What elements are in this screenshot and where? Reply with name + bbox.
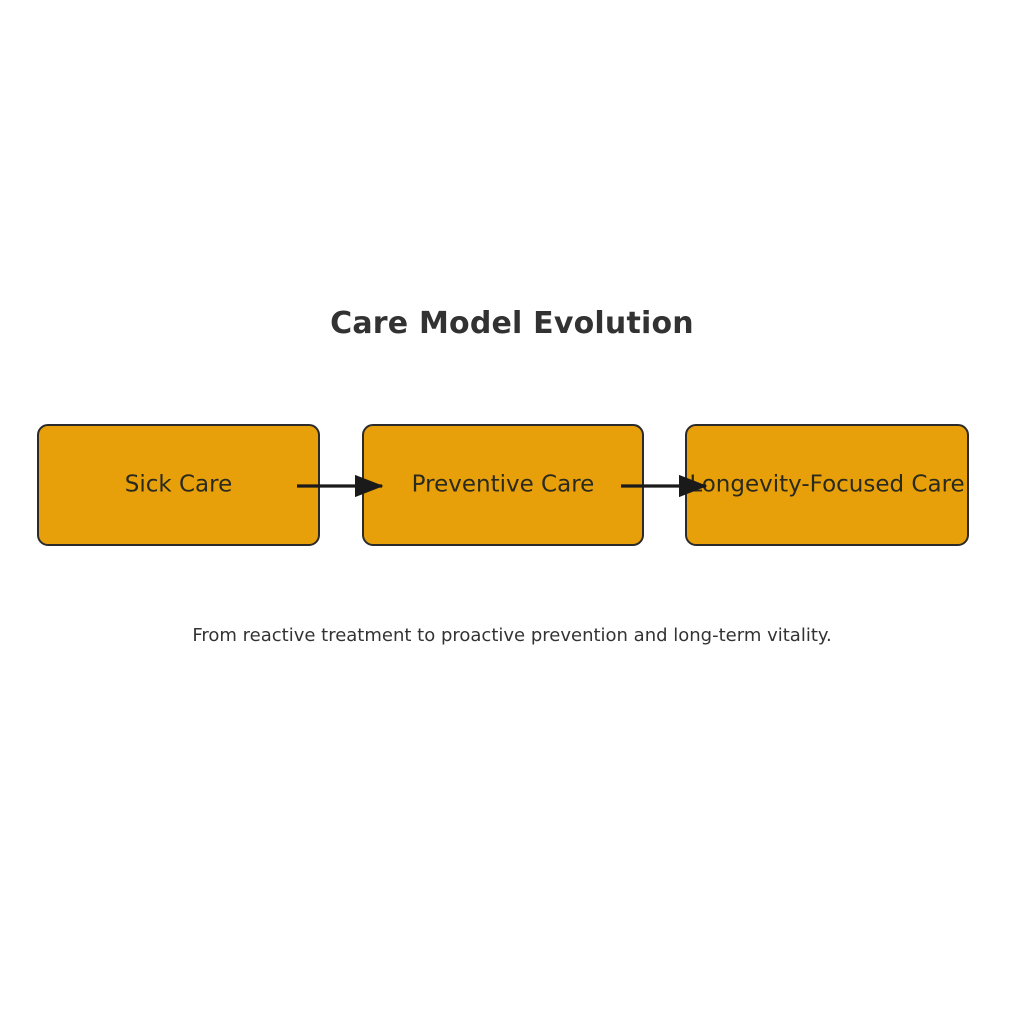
diagram-caption: From reactive treatment to proactive pre… [0, 625, 1024, 646]
flow-node-label: Preventive Care [412, 474, 595, 497]
flow-row: Sick Care Preventive Care Longevity-Focu… [0, 424, 1024, 548]
flow-node-label: Longevity-Focused Care [689, 474, 964, 497]
flow-node-longevity-focused-care[interactable]: Longevity-Focused Care [685, 424, 969, 546]
flow-node-label: Sick Care [125, 474, 233, 497]
flow-node-preventive-care[interactable]: Preventive Care [362, 424, 644, 546]
diagram-title: Care Model Evolution [0, 306, 1024, 341]
diagram-canvas: Care Model Evolution Sick Care Preventiv… [0, 0, 1024, 1024]
flow-node-sick-care[interactable]: Sick Care [37, 424, 320, 546]
